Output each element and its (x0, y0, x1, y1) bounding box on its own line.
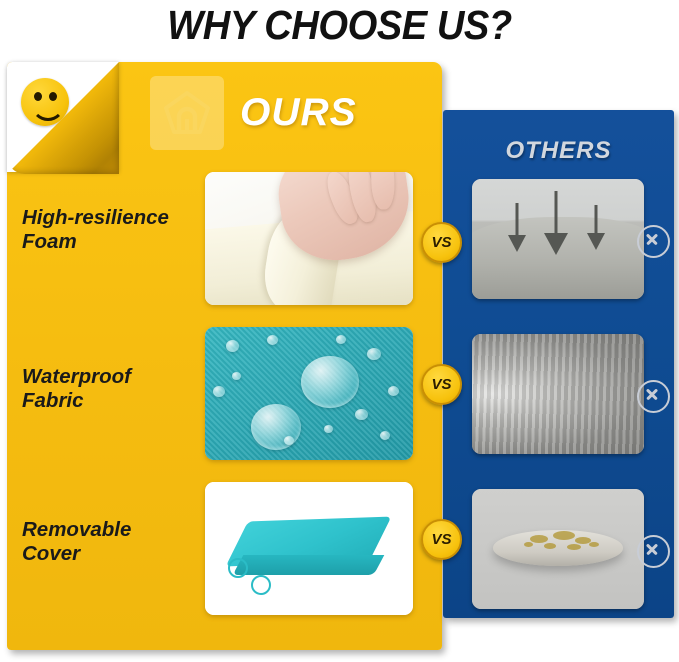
feature-label-foam-line2: Foam (22, 230, 202, 254)
ours-label: OURS (240, 91, 357, 135)
feature-label-fabric-line2: Fabric (22, 389, 202, 413)
feature-label-fabric-line1: Waterproof (22, 365, 202, 389)
feature-label-cover-line1: Removable (22, 518, 202, 542)
pentagon-house-icon (150, 76, 224, 150)
feature-label-foam-line1: High-resilience (22, 206, 202, 230)
ours-header: OURS (150, 76, 357, 150)
ours-image-removable-cover (205, 482, 413, 615)
others-label: OTHERS (443, 137, 674, 165)
others-image-soaked-fabric (472, 334, 644, 454)
feature-label-fabric: Waterproof Fabric (22, 365, 202, 413)
vs-badge-cover: VS (421, 519, 462, 560)
vs-badge-fabric: VS (421, 364, 462, 405)
vs-badge-foam: VS (421, 222, 462, 263)
ours-image-waterproof-fabric (205, 327, 413, 460)
feature-label-cover-line2: Cover (22, 542, 202, 566)
feature-label-cover: Removable Cover (22, 518, 202, 566)
x-circle-icon-cover (637, 535, 670, 568)
ours-image-foam (205, 172, 413, 305)
others-image-stained-cushion (472, 489, 644, 609)
x-circle-icon-fabric (637, 380, 670, 413)
page-title: WHY CHOOSE US? (24, 0, 655, 50)
feature-label-foam: High-resilience Foam (22, 206, 202, 254)
x-circle-icon-foam (637, 225, 670, 258)
others-image-flattened-foam (472, 179, 644, 299)
smiley-face-icon (21, 78, 69, 126)
